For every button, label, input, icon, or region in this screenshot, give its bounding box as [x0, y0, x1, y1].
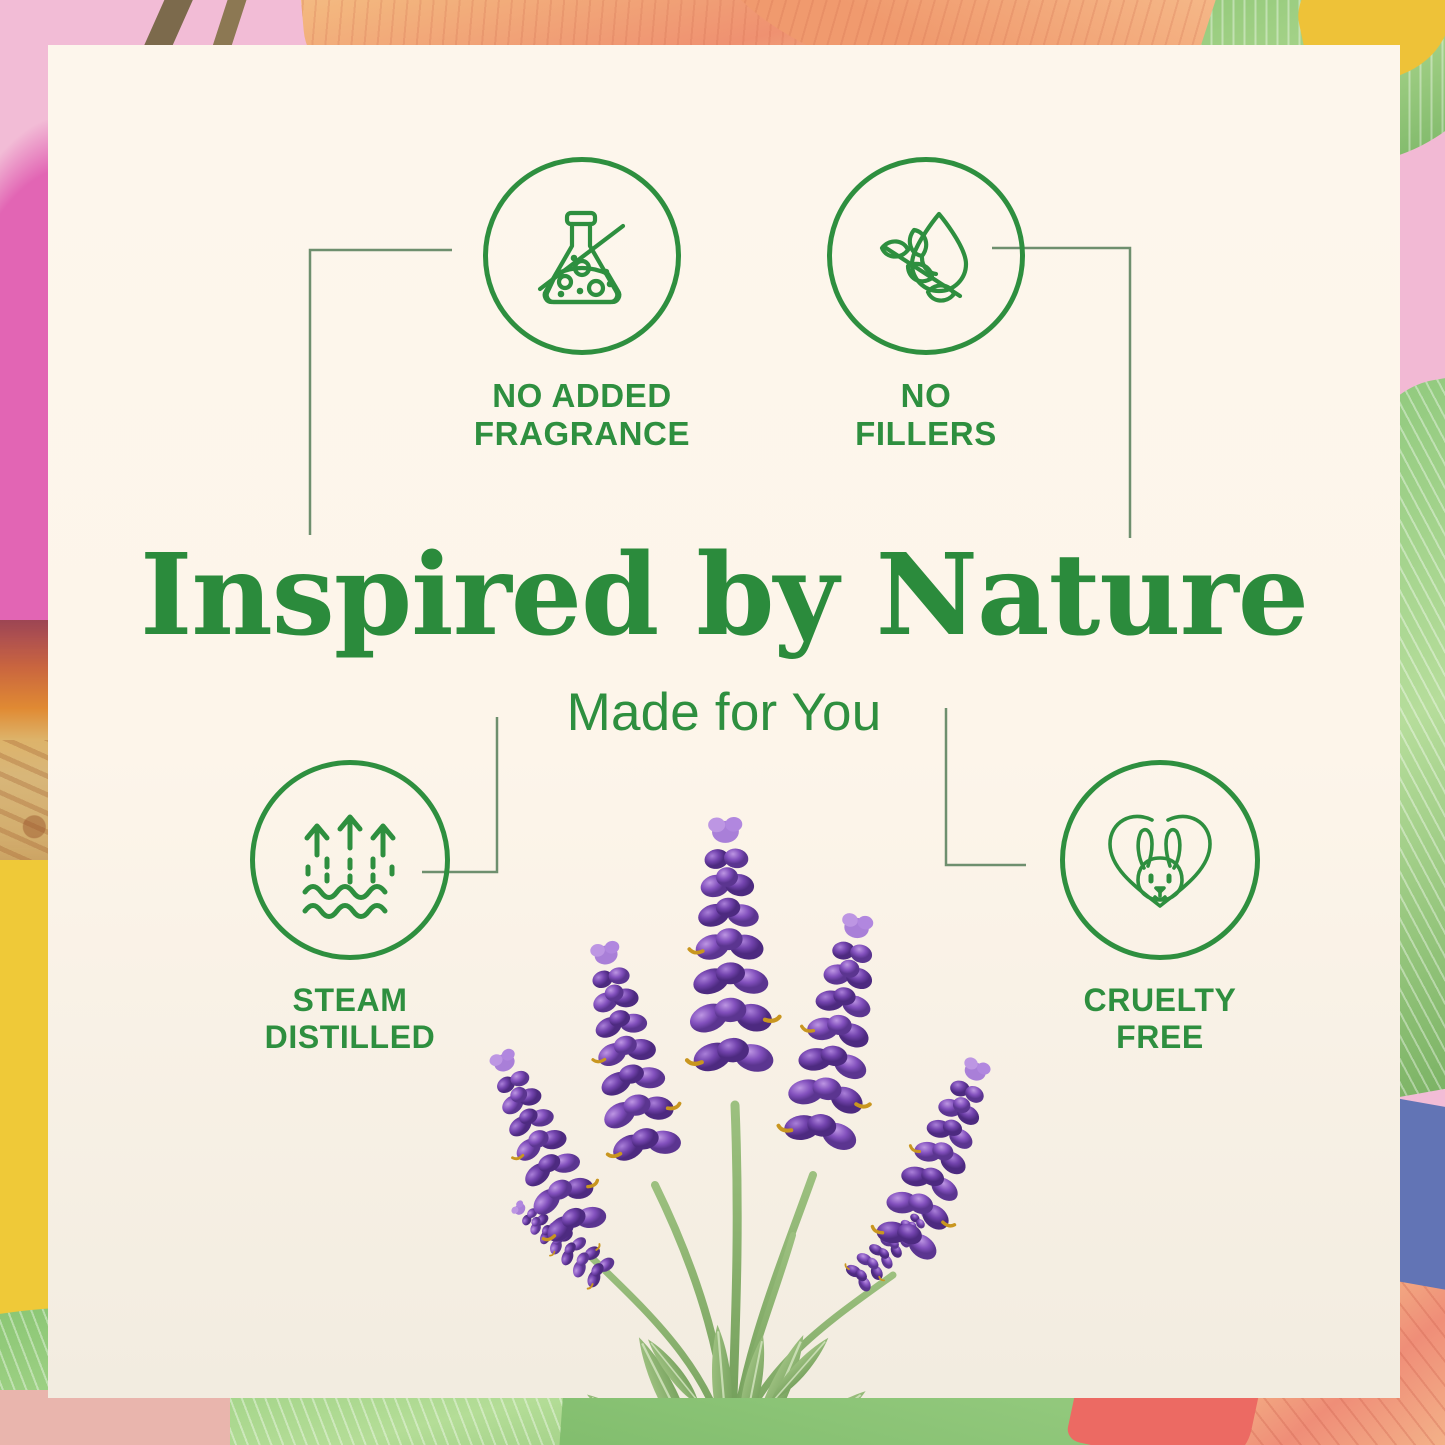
page-subtitle: Made for You — [48, 682, 1400, 743]
badge-circle — [1060, 760, 1260, 960]
badge-circle — [250, 760, 450, 960]
screenshot-stage: NO ADDED FRAGRANCE — [0, 0, 1445, 1445]
badge-label: NO ADDED FRAGRANCE — [452, 377, 712, 454]
badge-circle — [827, 157, 1025, 355]
feature-card: NO ADDED FRAGRANCE — [48, 45, 1400, 1398]
badge-no-fillers: NO FILLERS — [796, 157, 1056, 454]
background-coral-bottom-left — [0, 1390, 230, 1445]
steam-arrows-water-icon — [287, 797, 413, 923]
droplet-leaf-icon — [864, 194, 988, 318]
badge-label: CRUELTY FREE — [1030, 982, 1290, 1056]
page-title: Inspired by Nature — [48, 540, 1400, 652]
lavender-bouquet-illustration — [441, 805, 1021, 1398]
badge-label: NO FILLERS — [796, 377, 1056, 454]
bunny-heart-icon — [1096, 796, 1224, 924]
badge-no-added-fragrance: NO ADDED FRAGRANCE — [452, 157, 712, 454]
badge-circle — [483, 157, 681, 355]
flask-no-fragrance-icon — [520, 194, 644, 318]
badge-cruelty-free: CRUELTY FREE — [1030, 760, 1290, 1056]
